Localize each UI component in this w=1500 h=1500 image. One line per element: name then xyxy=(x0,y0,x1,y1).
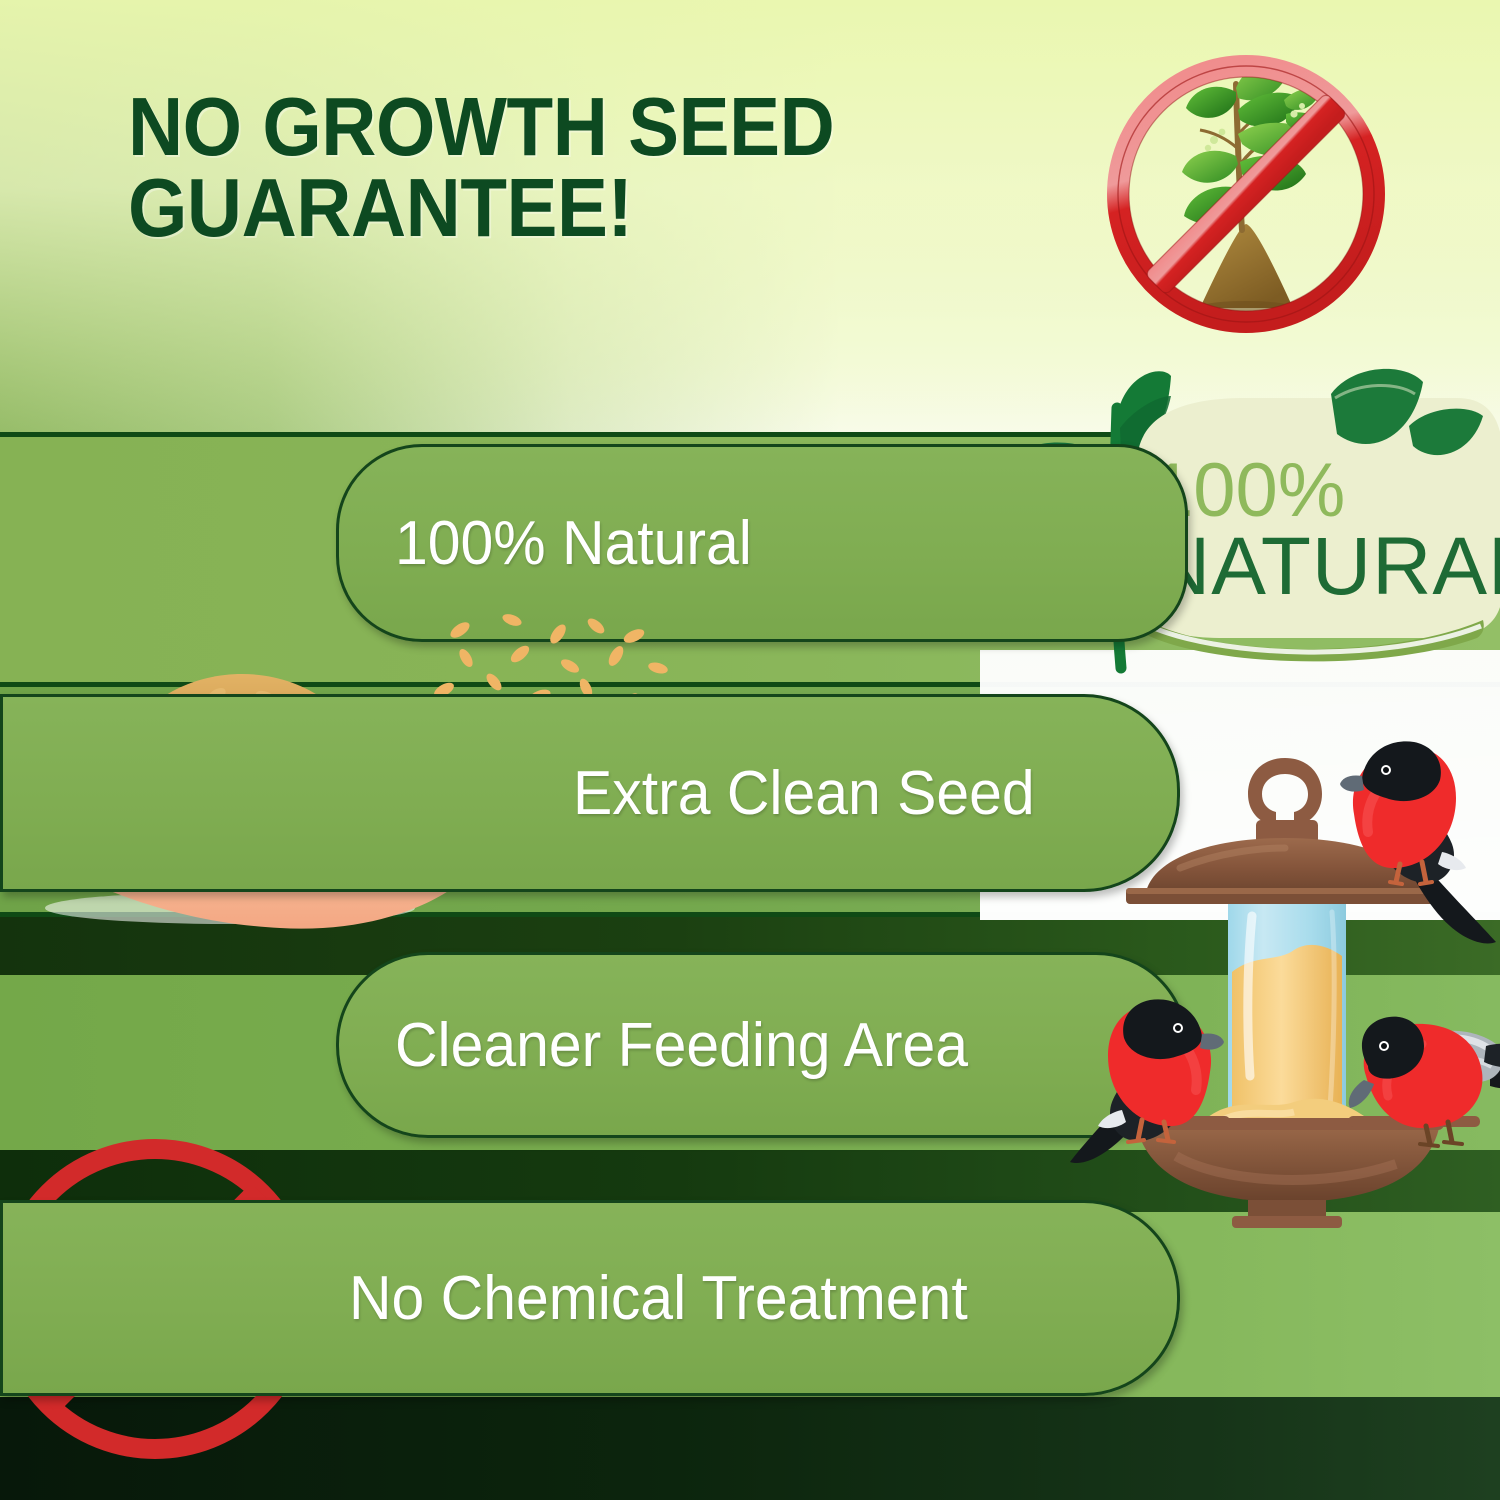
feature-label-cleaner-feeding-area: Cleaner Feeding Area xyxy=(395,1010,968,1081)
feature-pill-no-chemical-treatment[interactable]: No Chemical Treatment xyxy=(0,1200,1180,1396)
bird-feeder-icon xyxy=(1080,716,1500,1226)
feature-pill-cleaner-feeding-area[interactable]: Cleaner Feeding Area xyxy=(336,952,1188,1138)
badge-natural-text: NATURAL xyxy=(1151,521,1500,612)
headline-line-1: NO GROWTH SEED xyxy=(128,86,956,167)
page-title: NO GROWTH SEED GUARANTEE! xyxy=(128,86,956,249)
feature-label-extra-clean-seed: Extra Clean Seed xyxy=(573,758,1035,829)
product-infographic: NO GROWTH SEED GUARANTEE! xyxy=(0,0,1500,1500)
feature-pill-extra-clean-seed[interactable]: Extra Clean Seed xyxy=(0,694,1180,892)
bullfinch-bird-icon xyxy=(1340,741,1496,943)
no-plant-prohibition-icon xyxy=(1088,48,1408,328)
headline-line-2: GUARANTEE! xyxy=(128,167,956,248)
feature-label-no-chemical-treatment: No Chemical Treatment xyxy=(349,1263,968,1334)
feature-label-natural: 100% Natural xyxy=(395,508,752,579)
